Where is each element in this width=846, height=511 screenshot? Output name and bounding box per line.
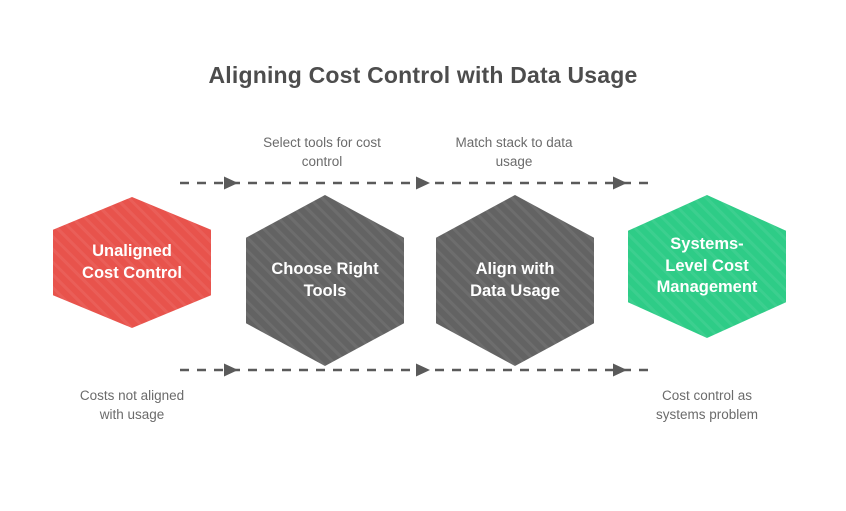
- arrowhead-icon: [416, 177, 430, 190]
- arrowhead-icon: [416, 364, 430, 377]
- stage-hexagon-systems-level-cost-management[interactable]: Systems- Level Cost Management: [628, 195, 786, 338]
- stage-hexagon-align-with-data-usage[interactable]: Align with Data Usage: [436, 195, 594, 366]
- step-label-match-stack: Match stack to data usage: [424, 133, 604, 171]
- arrowhead-icon: [224, 364, 238, 377]
- page-title: Aligning Cost Control with Data Usage: [0, 62, 846, 89]
- diagram-canvas: Aligning Cost Control with Data Usage Se…: [0, 0, 846, 511]
- stage-label: Align with Data Usage: [460, 259, 570, 303]
- arrowhead-icon: [613, 177, 627, 190]
- step-label-select-tools: Select tools for cost control: [232, 133, 412, 171]
- arrowhead-icon: [613, 364, 627, 377]
- arrowhead-icon: [224, 177, 238, 190]
- stage-hexagon-choose-right-tools[interactable]: Choose Right Tools: [246, 195, 404, 366]
- caption-cost-control-systems: Cost control as systems problem: [617, 386, 797, 424]
- stage-label: Systems- Level Cost Management: [647, 234, 768, 300]
- connector-arrow-bottom: [180, 363, 656, 377]
- connector-arrow-top: [180, 176, 656, 190]
- stage-label: Choose Right Tools: [261, 259, 388, 303]
- stage-label: Unaligned Cost Control: [72, 241, 192, 285]
- stage-hexagon-unaligned-cost-control[interactable]: Unaligned Cost Control: [53, 197, 211, 328]
- caption-costs-not-aligned: Costs not aligned with usage: [42, 386, 222, 424]
